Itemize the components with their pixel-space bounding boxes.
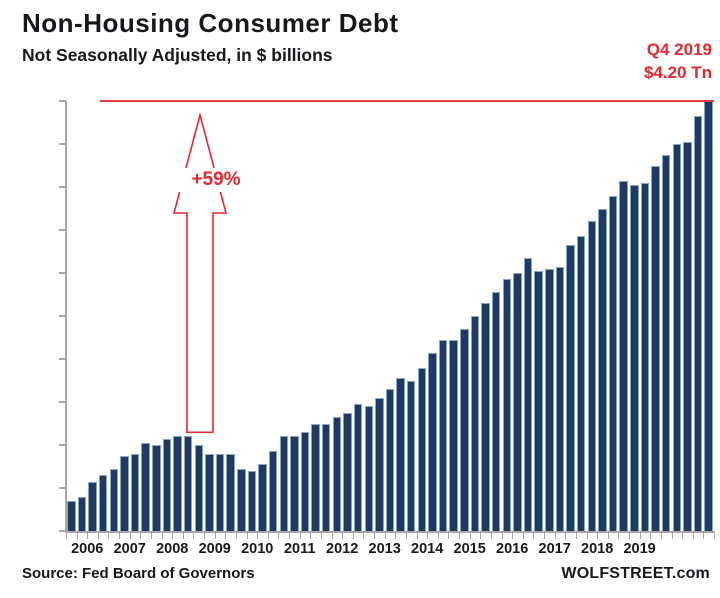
bar — [173, 436, 181, 531]
x-axis-tick-mark — [289, 531, 290, 539]
x-axis-tick-mark — [640, 531, 641, 539]
x-axis-tick-mark — [650, 531, 651, 539]
x-axis-tick-mark — [204, 531, 205, 539]
x-axis-tick-mark — [693, 531, 694, 539]
bar — [269, 451, 277, 531]
x-axis-year-label: 2012 — [326, 541, 358, 557]
x-axis-tick-mark — [278, 531, 279, 539]
x-axis-tick-mark — [576, 531, 577, 539]
bar — [110, 469, 118, 531]
x-axis-tick-mark — [385, 531, 386, 539]
chart-subtitle: Not Seasonally Adjusted, in $ billions — [22, 45, 333, 66]
x-axis-year-label: 2008 — [156, 541, 188, 557]
x-axis-tick-mark — [353, 531, 354, 539]
bar — [301, 432, 309, 531]
x-axis-tick-mark — [448, 531, 449, 539]
bar — [545, 269, 553, 531]
x-axis-tick-mark — [193, 531, 194, 539]
bar — [131, 454, 139, 531]
y-axis-tick-mark — [59, 487, 66, 489]
callout-value: $4.20 Tn — [644, 61, 712, 84]
bar — [651, 166, 659, 532]
x-axis-year-label: 2016 — [496, 541, 528, 557]
bar — [641, 183, 649, 531]
x-axis-tick-mark — [162, 531, 163, 539]
x-axis-tick-mark — [363, 531, 364, 539]
bar — [524, 258, 532, 531]
x-axis-tick-mark — [119, 531, 120, 539]
x-axis-tick-mark — [587, 531, 588, 539]
x-axis-tick-mark — [225, 531, 226, 539]
x-axis-year-label: 2011 — [284, 541, 315, 557]
x-axis-tick-mark — [470, 531, 471, 539]
bar — [577, 236, 585, 531]
x-axis-tick-mark — [257, 531, 258, 539]
y-axis-tick-mark — [59, 186, 66, 188]
bar — [534, 271, 542, 531]
growth-arrow-label: +59% — [160, 168, 272, 192]
x-axis-tick-mark — [502, 531, 503, 539]
bar — [460, 329, 468, 531]
plot-area — [66, 101, 714, 531]
x-axis-tick-mark — [183, 531, 184, 539]
bar — [163, 439, 171, 531]
bar — [141, 443, 149, 531]
x-axis-tick-mark — [215, 531, 216, 539]
x-axis-tick-mark — [310, 531, 311, 539]
x-axis-year-label: 2014 — [411, 541, 443, 557]
x-axis-tick-mark — [672, 531, 673, 539]
source-note: Source: Fed Board of Governors — [22, 565, 255, 582]
bar — [226, 454, 234, 531]
y-axis-tick-mark — [59, 229, 66, 231]
x-axis-tick-mark — [555, 531, 556, 539]
x-axis-tick-mark — [236, 531, 237, 539]
bar — [492, 292, 500, 531]
latest-value-callout: Q4 2019 $4.20 Tn — [644, 38, 712, 85]
x-axis-year-label: 2017 — [539, 541, 571, 557]
bar — [120, 456, 128, 531]
x-axis-tick-mark — [618, 531, 619, 539]
bar — [609, 196, 617, 531]
bar — [588, 221, 596, 531]
x-axis-tick-mark — [87, 531, 88, 539]
bar — [503, 279, 511, 531]
bar — [407, 381, 415, 532]
bar — [195, 445, 203, 531]
bar — [694, 116, 702, 531]
x-axis-tick-mark — [438, 531, 439, 539]
bar — [630, 185, 638, 531]
bar — [67, 501, 75, 531]
bar — [598, 209, 606, 532]
x-axis-tick-mark — [247, 531, 248, 539]
bar — [375, 398, 383, 531]
y-axis-tick-mark — [59, 100, 66, 102]
bar — [343, 413, 351, 531]
x-axis-tick-mark — [172, 531, 173, 539]
x-axis-tick-mark — [374, 531, 375, 539]
x-axis-year-label: 2009 — [199, 541, 231, 557]
bar — [428, 353, 436, 531]
y-axis-tick-mark — [59, 444, 66, 446]
bar — [333, 417, 341, 531]
x-axis-tick-mark — [533, 531, 534, 539]
x-axis-tick-mark — [629, 531, 630, 539]
x-axis-tick-mark — [703, 531, 704, 539]
x-axis-tick-mark — [608, 531, 609, 539]
y-axis-tick-mark — [59, 401, 66, 403]
x-axis-tick-mark — [395, 531, 396, 539]
bar — [311, 424, 319, 532]
y-axis-tick-mark — [59, 272, 66, 274]
bar — [78, 497, 86, 531]
x-axis-tick-mark — [661, 531, 662, 539]
bar — [88, 482, 96, 531]
bar — [290, 436, 298, 531]
x-axis-tick-mark — [77, 531, 78, 539]
bar — [704, 101, 712, 531]
x-axis-tick-mark — [565, 531, 566, 539]
x-axis-tick-mark — [98, 531, 99, 539]
callout-period: Q4 2019 — [644, 38, 712, 61]
x-axis-tick-mark — [300, 531, 301, 539]
chart-figure: Non-Housing Consumer Debt Not Seasonally… — [0, 0, 720, 598]
x-axis-tick-mark — [321, 531, 322, 539]
bar — [513, 273, 521, 531]
bar — [365, 406, 373, 531]
bar — [184, 436, 192, 531]
x-axis-tick-mark — [480, 531, 481, 539]
x-axis-year-label: 2018 — [581, 541, 613, 557]
x-axis-tick-mark — [151, 531, 152, 539]
bar — [683, 142, 691, 531]
y-axis-tick-mark — [59, 315, 66, 317]
x-axis-year-label: 2013 — [369, 541, 401, 557]
bar — [258, 464, 266, 531]
x-axis-year-label: 2019 — [623, 541, 655, 557]
bar — [386, 389, 394, 531]
bar — [354, 404, 362, 531]
bar — [216, 454, 224, 531]
watermark: WOLFSTREET.com — [561, 565, 710, 583]
reference-line — [100, 100, 714, 102]
bar — [439, 340, 447, 531]
bar — [280, 436, 288, 531]
bar — [418, 368, 426, 531]
bar — [471, 316, 479, 531]
bar — [322, 424, 330, 532]
y-axis-tick-mark — [59, 530, 66, 532]
x-axis-tick-mark — [342, 531, 343, 539]
x-axis-year-label: 2015 — [454, 541, 486, 557]
bar — [99, 475, 107, 531]
bar — [237, 469, 245, 531]
x-axis-year-label: 2006 — [71, 541, 103, 557]
x-axis-tick-mark — [108, 531, 109, 539]
x-axis-tick-mark — [332, 531, 333, 539]
x-axis-tick-mark — [682, 531, 683, 539]
x-axis-year-label: 2010 — [241, 541, 273, 557]
bar — [619, 181, 627, 531]
bar — [449, 340, 457, 531]
x-axis-tick-mark — [140, 531, 141, 539]
bar — [556, 267, 564, 531]
bar — [396, 378, 404, 531]
y-axis-tick-mark — [59, 358, 66, 360]
bar — [662, 155, 670, 531]
x-axis-tick-mark — [130, 531, 131, 539]
bar — [152, 445, 160, 531]
x-axis-year-label: 2007 — [114, 541, 146, 557]
x-axis-tick-mark — [523, 531, 524, 539]
x-axis-tick-mark — [406, 531, 407, 539]
bar — [248, 471, 256, 531]
x-axis-tick-mark — [427, 531, 428, 539]
x-axis-tick-mark — [512, 531, 513, 539]
x-axis-tick-mark — [417, 531, 418, 539]
x-axis-tick-mark — [459, 531, 460, 539]
x-axis-tick-mark — [66, 531, 67, 539]
page-title: Non-Housing Consumer Debt — [22, 8, 399, 39]
bar — [566, 245, 574, 531]
x-axis-tick-mark — [597, 531, 598, 539]
x-axis-tick-mark — [491, 531, 492, 539]
bar — [673, 144, 681, 531]
x-axis-tick-mark — [268, 531, 269, 539]
x-axis-tick-mark — [714, 531, 715, 539]
x-axis-tick-mark — [544, 531, 545, 539]
bar — [205, 454, 213, 531]
y-axis-tick-mark — [59, 143, 66, 145]
bar — [481, 303, 489, 531]
